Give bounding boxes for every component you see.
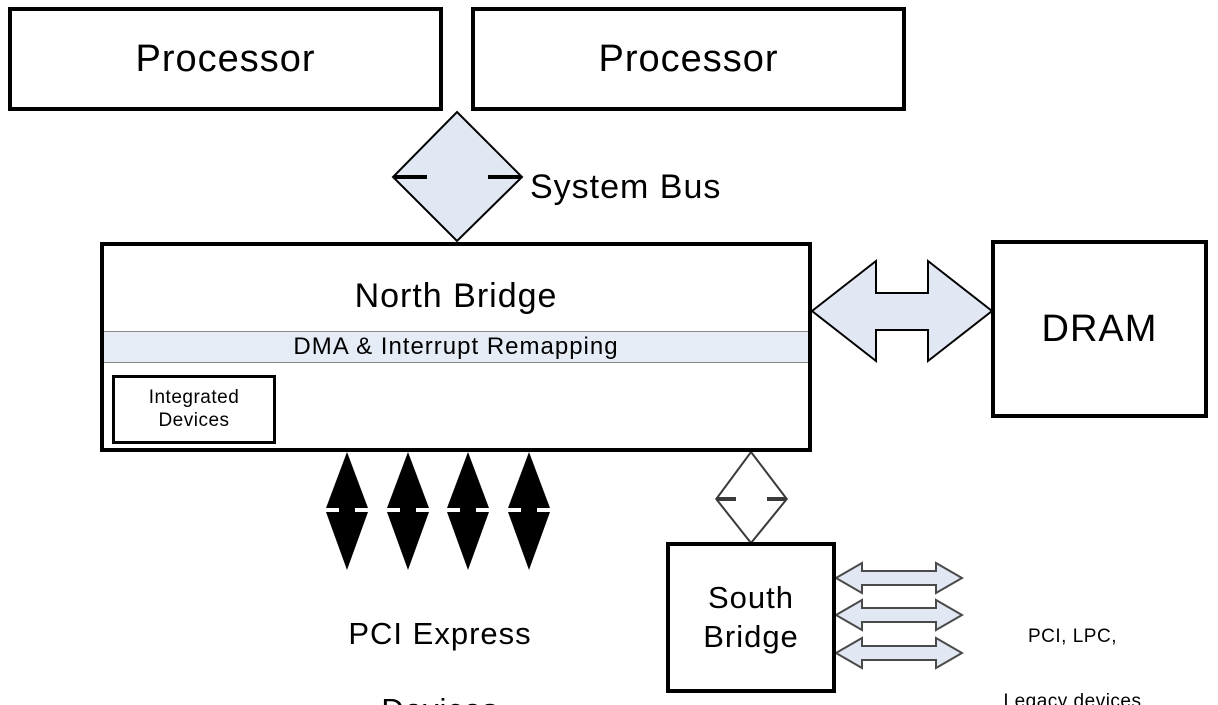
system-bus-label: System Bus <box>530 168 721 207</box>
pcie-arrow-group <box>326 452 550 570</box>
legacy-bus-line-2: Legacy devices <box>965 688 1180 705</box>
legacy-arrow-icon-2 <box>836 600 962 630</box>
processor-left-block[interactable]: Processor <box>8 7 443 111</box>
system-bus-arrow-icon <box>394 112 521 241</box>
south-bridge-line-2: Bridge <box>703 618 799 657</box>
dram-label: DRAM <box>1042 308 1158 351</box>
legacy-bus-label-group: PCI, LPC, Legacy devices <box>965 587 1180 705</box>
integrated-devices-block[interactable]: Integrated Devices <box>112 375 276 444</box>
processor-right-block[interactable]: Processor <box>471 7 906 111</box>
processor-left-label: Processor <box>135 38 315 81</box>
south-bridge-block[interactable]: South Bridge <box>666 542 836 693</box>
integrated-devices-line-2: Devices <box>158 410 229 432</box>
integrated-devices-line-1: Integrated <box>149 387 240 409</box>
pci-express-devices-line-1: PCI Express <box>290 614 590 654</box>
pcie-arrow-icon-4 <box>508 452 550 570</box>
legacy-arrow-icon-1 <box>836 563 962 593</box>
pci-express-devices-label-group: PCI Express Devices <box>290 578 590 705</box>
dma-interrupt-remapping-label: DMA & Interrupt Remapping <box>293 333 618 361</box>
pcie-arrow-icon-2 <box>387 452 429 570</box>
dram-block[interactable]: DRAM <box>991 240 1208 418</box>
south-bridge-line-1: South <box>708 579 794 618</box>
pcie-arrow-icon-1 <box>326 452 368 570</box>
legacy-arrow-icon-3 <box>836 638 962 668</box>
south-bridge-arrow-icon <box>717 452 786 543</box>
diagram-canvas: Processor Processor System Bus North Bri… <box>0 0 1218 705</box>
pci-express-devices-line-2: Devices <box>290 690 590 705</box>
legacy-bus-line-1: PCI, LPC, <box>965 623 1180 652</box>
north-bridge-label: North Bridge <box>104 277 808 316</box>
legacy-arrow-group <box>836 563 962 668</box>
pcie-arrow-icon-3 <box>447 452 489 570</box>
dram-arrow-icon <box>812 261 992 361</box>
processor-right-label: Processor <box>598 38 778 81</box>
dma-interrupt-remapping-band: DMA & Interrupt Remapping <box>104 331 808 363</box>
